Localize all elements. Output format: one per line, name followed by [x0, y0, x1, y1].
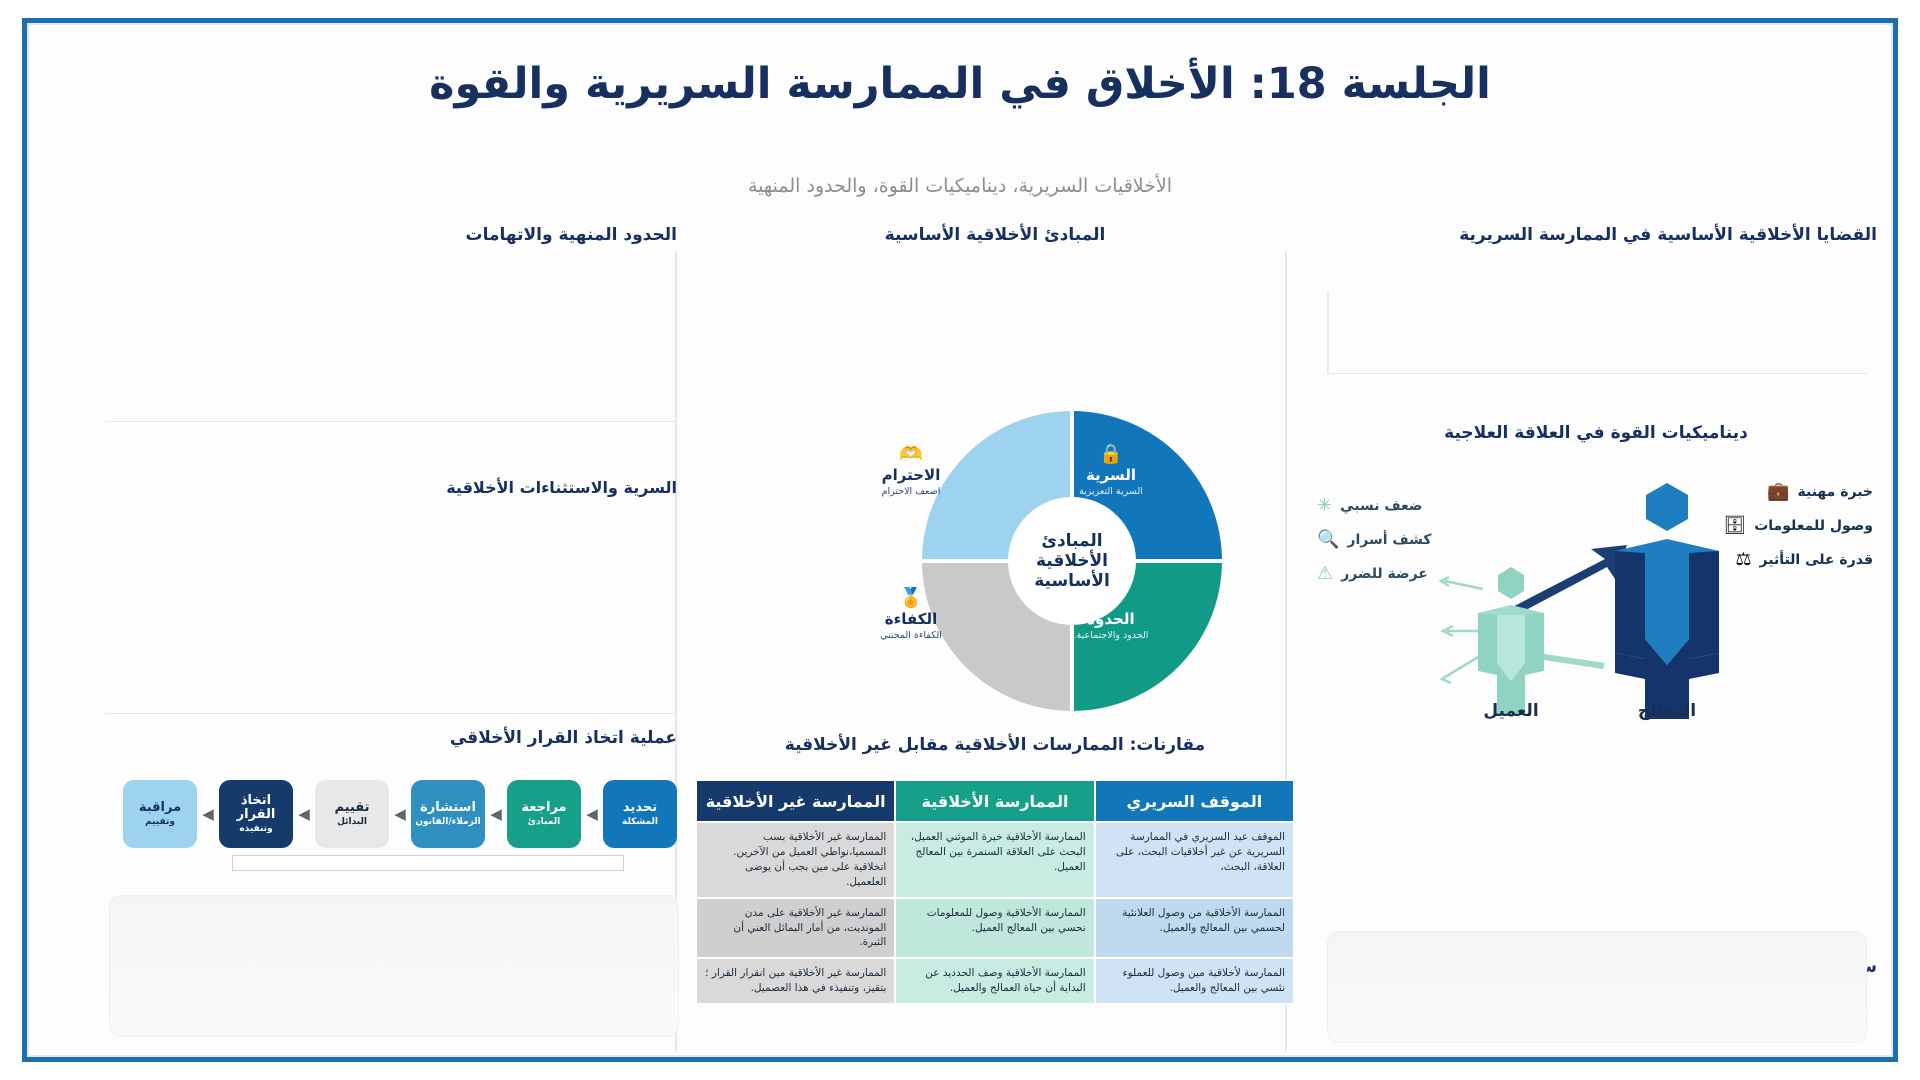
- arrow-client-attr-1: [1441, 577, 1483, 589]
- donut-label-title-confidentiality: السرية: [1059, 467, 1163, 484]
- flow-title: عملية اتخاذ القرار الأخلاقي: [105, 728, 677, 748]
- left-column-rule-bottom: [105, 713, 677, 714]
- right-column-tick: [1327, 291, 1329, 373]
- therapist-attribute-label: قدرة على التأثير: [1760, 552, 1873, 568]
- flow-step-subtitle: المشكلة: [622, 817, 658, 827]
- page-subtitle: الأخلاقيات السريرية، ديناميكيات القوة، و…: [27, 175, 1893, 197]
- therapist-attribute-list: 💼خبرة مهنية🗄وصول للمعلومات⚖قدرة على التأ…: [1723, 483, 1873, 569]
- table-header-row: الموقف السريري الممارسة الأخلاقية الممار…: [696, 780, 1294, 822]
- flow-arrow-icon: ◀: [197, 807, 219, 822]
- flow-step-title: تحديد: [623, 801, 657, 816]
- client-attribute-2: 🔍كشف أسرار: [1317, 531, 1432, 549]
- client-attribute-1: ✳ضعف نسبي: [1317, 497, 1432, 515]
- table-cell-ethical: الممارسة الأخلاقية خيرة الموثني العميل، …: [895, 822, 1094, 898]
- flow-arrow-icon: ◀: [581, 807, 603, 822]
- donut-label-title-respect: الاحترام: [859, 467, 963, 484]
- left-ghost-outline: [232, 855, 624, 871]
- donut-center-label: المبادئ الأخلاقية الأساسية: [1008, 497, 1136, 625]
- table-row: الموقف عيد السريري في الممارسة السريرية …: [696, 822, 1294, 898]
- table-cell-ethical: الممارسة الأخلاقية وصول للمعلومات نحسي ب…: [895, 898, 1094, 959]
- flow-step-title: اتخاذ القرار: [222, 794, 290, 823]
- page-title: الجلسة 18: الأخلاق في الممارسة السريرية …: [27, 59, 1893, 109]
- table-row: الممارسة لأخلاقية مين وصول للعملوء نئسي …: [696, 958, 1294, 1004]
- power-dynamics-title: ديناميكيات القوة في العلاقة العلاجية: [1315, 423, 1877, 443]
- therapist-attribute-label: خبرة مهنية: [1798, 484, 1873, 500]
- donut-center-line-2: الأخلاقية: [1036, 551, 1108, 571]
- donut-label-competence: 🏅 الكفاءة الكفاءة المحتني: [859, 589, 963, 641]
- column-header-core-principles: المبادئ الأخلاقية الأساسية: [695, 225, 1295, 245]
- document-lock-icon: 🗄: [1723, 517, 1746, 535]
- flow-step-title: مراجعة: [521, 801, 566, 816]
- flow-step-title: تقييم: [334, 801, 369, 816]
- donut-label-sub-confidentiality: السرية التعزيزية: [1059, 486, 1163, 497]
- hand-heart-icon: 🫶: [859, 445, 963, 464]
- flow-step-3[interactable]: استشارةالزملاء/القانون: [411, 780, 485, 848]
- flow-step-subtitle: المبادئ: [528, 817, 560, 827]
- table-cell-unethical: الممارسة غير الأخلاقية على مدن المونديت،…: [696, 898, 895, 959]
- left-section-title-confidentiality: السرية والاستثناءات الأخلاقية: [105, 478, 677, 497]
- table-cell-unethical: الممارسة غير الأخلاقية مين انقرار القرار…: [696, 958, 895, 1004]
- table-col-header-unethical: الممارسة غير الأخلاقية: [696, 780, 895, 822]
- slide-root: الجلسة 18: الأخلاق في الممارسة السريرية …: [0, 0, 1920, 1080]
- donut-label-respect: 🫶 الاحترام اصعف الاحترام: [859, 445, 963, 497]
- donut-center-line-1: المبادئ: [1041, 531, 1102, 551]
- flow-step-subtitle: وتنفيذه: [239, 824, 272, 834]
- table-cell-situation: الموقف عيد السريري في الممارسة السريرية …: [1095, 822, 1294, 898]
- column-header-clinical-issues: القضايا الأخلاقية الأساسية في الممارسة ا…: [1315, 225, 1877, 245]
- flow-step-subtitle: البدائل: [337, 817, 367, 827]
- table-cell-situation: الممارسة الأخلاقية من وصول العلانئية لحس…: [1095, 898, 1294, 959]
- flow-step-1[interactable]: تحديدالمشكلة: [603, 780, 677, 848]
- flow-arrow-icon: ◀: [293, 807, 315, 822]
- therapist-figure: [1615, 483, 1719, 719]
- power-dynamics-diagram: المعالج العميل 💼خبرة مهنية🗄وصول للمعلوما…: [1315, 453, 1877, 733]
- table-cell-ethical: الممارسة الأخلاقية وصف الحدديد عن البداي…: [895, 958, 1094, 1004]
- therapist-attribute-3: ⚖قدرة على التأثير: [1735, 551, 1873, 569]
- left-column-rule-top: [105, 421, 677, 422]
- table-cell-situation: الممارسة لأخلاقية مين وصول للعملوء نئسي …: [1095, 958, 1294, 1004]
- table-col-header-ethical: الممارسة الأخلاقية: [895, 780, 1094, 822]
- flow-step-2[interactable]: مراجعةالمبادئ: [507, 780, 581, 848]
- flow-step-6[interactable]: مراقبةوتقييم: [123, 780, 197, 848]
- flow-step-subtitle: الزملاء/القانون: [415, 817, 480, 827]
- client-caption: العميل: [1451, 701, 1571, 721]
- warning-triangle-icon: ⚠: [1317, 565, 1333, 583]
- column-header-boundaries: الحدود المنهية والاتهامات: [105, 225, 677, 245]
- donut-label-sub-competence: الكفاءة المحتني: [859, 630, 963, 641]
- donut-label-title-competence: الكفاءة: [859, 611, 963, 628]
- discussion-answer-box[interactable]: [1327, 931, 1867, 1043]
- table-row: الممارسة الأخلاقية من وصول العلانئية لحس…: [696, 898, 1294, 959]
- flow-step-title: مراقبة: [139, 801, 181, 816]
- client-attribute-list: ✳ضعف نسبي🔍كشف أسرار⚠عرضة للضرر: [1317, 497, 1432, 583]
- client-figure: [1478, 567, 1544, 715]
- slide-frame: الجلسة 18: الأخلاق في الممارسة السريرية …: [22, 18, 1898, 1062]
- donut-center-line-3: الأساسية: [1034, 571, 1110, 591]
- client-attribute-label: ضعف نسبي: [1340, 498, 1422, 514]
- fragile-icon: ✳: [1317, 497, 1332, 515]
- therapist-caption: المعالج: [1607, 701, 1727, 721]
- comparison-table: الموقف السريري الممارسة الأخلاقية الممار…: [695, 779, 1295, 1005]
- right-column-rule-top: [1327, 373, 1867, 374]
- flow-step-5[interactable]: اتخاذ القراروتنفيذه: [219, 780, 293, 848]
- client-attribute-label: عرضة للضرر: [1341, 566, 1428, 582]
- flow-step-subtitle: وتقييم: [145, 817, 175, 827]
- comparison-table-title: مقارنات: الممارسات الأخلاقية مقابل غير ا…: [695, 735, 1295, 755]
- lock-icon: 🔒: [1059, 445, 1163, 464]
- briefcase-icon: 💼: [1767, 483, 1789, 501]
- therapist-attribute-label: وصول للمعلومات: [1754, 518, 1873, 534]
- client-attribute-3: ⚠عرضة للضرر: [1317, 565, 1432, 583]
- flow-arrow-icon: ◀: [485, 807, 507, 822]
- core-principles-donut: المبادئ الأخلاقية الأساسية 🔒 السرية السر…: [857, 411, 1287, 711]
- flow-step-title: استشارة: [420, 801, 476, 816]
- left-ghost-card: [109, 895, 679, 1037]
- magnifier-icon: 🔍: [1317, 531, 1339, 549]
- scales-icon: ⚖: [1735, 551, 1751, 569]
- client-attribute-label: كشف أسرار: [1347, 532, 1431, 548]
- donut-label-sub-boundaries: الحدود والاجتماعية.: [1059, 630, 1163, 641]
- award-ribbon-icon: 🏅: [859, 589, 963, 608]
- flow-arrow-icon: ◀: [389, 807, 411, 822]
- therapist-attribute-1: 💼خبرة مهنية: [1767, 483, 1873, 501]
- table-col-header-situation: الموقف السريري: [1095, 780, 1294, 822]
- donut-label-sub-respect: اصعف الاحترام: [859, 486, 963, 497]
- table-cell-unethical: الممارسة غير الأخلاقية بسب المسميا،نواطي…: [696, 822, 895, 898]
- ethical-decision-flow: تحديدالمشكلة◀مراجعةالمبادئ◀استشارةالزملا…: [105, 775, 677, 853]
- donut-label-confidentiality: 🔒 السرية السرية التعزيزية: [1059, 445, 1163, 497]
- flow-step-4[interactable]: تقييمالبدائل: [315, 780, 389, 848]
- therapist-attribute-2: 🗄وصول للمعلومات: [1723, 517, 1873, 535]
